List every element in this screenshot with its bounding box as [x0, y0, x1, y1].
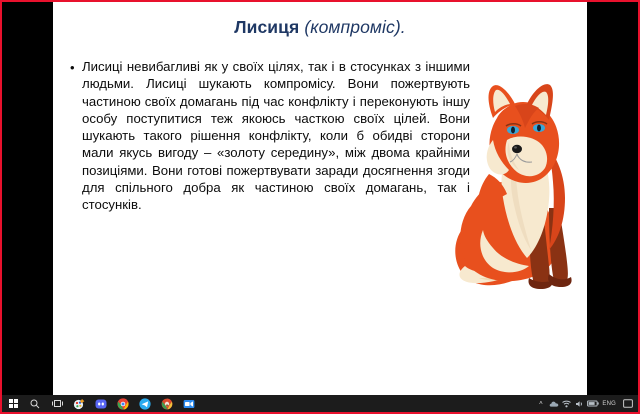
tray-expand-chevron-icon[interactable]: ˄: [534, 395, 547, 412]
taskbar-app-browser2[interactable]: [156, 395, 178, 412]
start-button[interactable]: [2, 395, 24, 412]
taskbar-app-paint[interactable]: [68, 395, 90, 412]
desktop-screen: Лисиця (компроміс). • Лисиці невибагливі…: [0, 0, 640, 414]
fox-illustration: [453, 78, 587, 303]
taskbar-left-group: [2, 395, 200, 412]
slide-title-bold: Лисиця: [234, 17, 299, 37]
taskbar-app-video[interactable]: [178, 395, 200, 412]
presentation-slide[interactable]: Лисиця (компроміс). • Лисиці невибагливі…: [53, 2, 587, 398]
slide-title-italic: (компроміс).: [304, 17, 405, 37]
taskbar-app-discord[interactable]: [90, 395, 112, 412]
slide-title: Лисиця (компроміс).: [53, 17, 587, 38]
tray-onedrive-icon[interactable]: [547, 395, 560, 412]
tray-language-indicator[interactable]: ENG: [599, 395, 619, 412]
taskbar-app-telegram[interactable]: [134, 395, 156, 412]
bullet-marker-icon: •: [70, 58, 82, 76]
system-tray[interactable]: ˄: [534, 395, 638, 412]
task-view-icon[interactable]: [46, 395, 68, 412]
taskbar-app-chrome[interactable]: [112, 395, 134, 412]
windows-taskbar[interactable]: ˄: [2, 395, 638, 412]
tray-network-icon[interactable]: [560, 395, 573, 412]
search-icon[interactable]: [24, 395, 46, 412]
tray-volume-icon[interactable]: [573, 395, 586, 412]
notification-center-icon[interactable]: [619, 395, 636, 412]
tray-battery-icon[interactable]: [586, 395, 599, 412]
slide-body: • Лисиці невибагливі як у своїх цілях, т…: [70, 58, 470, 214]
list-item: • Лисиці невибагливі як у своїх цілях, т…: [70, 58, 470, 214]
taskbar-spacer: [200, 395, 534, 412]
bullet-paragraph-text: Лисиці невибагливі як у своїх цілях, так…: [82, 58, 470, 214]
